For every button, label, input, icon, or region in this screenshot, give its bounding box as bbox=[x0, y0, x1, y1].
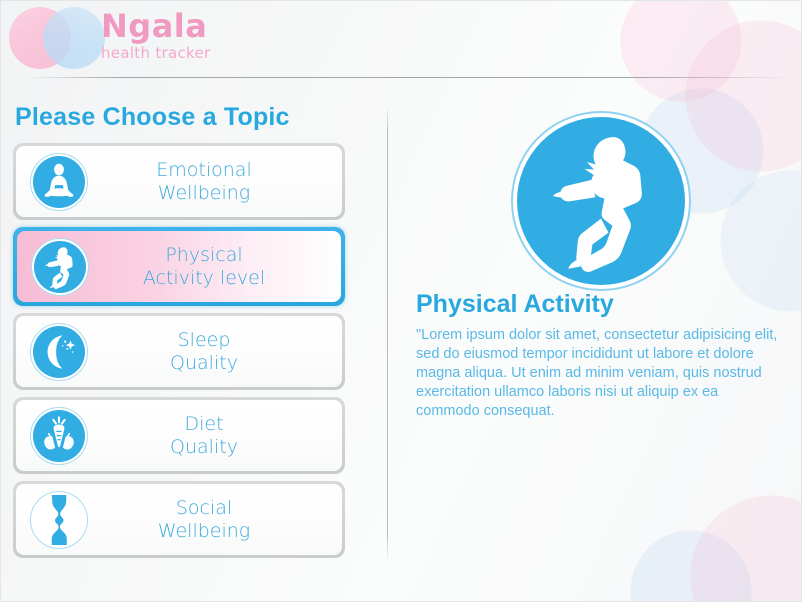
crescent-moon-stars-icon bbox=[30, 323, 88, 381]
logo-circle-blue-icon bbox=[43, 7, 105, 69]
brand-wordmark: Ngala health tracker bbox=[101, 9, 211, 62]
app-window: Ngala health tracker Please Choose a Top… bbox=[0, 0, 802, 602]
page-title: Please Choose a Topic bbox=[15, 103, 373, 132]
topic-item-inner: EmotionalWellbeing bbox=[16, 146, 342, 217]
topic-item-inner: PhysicalActivity level bbox=[17, 231, 341, 302]
jumping-person-icon bbox=[31, 238, 89, 296]
detail-title: Physical Activity bbox=[416, 290, 614, 319]
topic-selection-panel: Please Choose a Topic EmotionalWellbeing… bbox=[1, 87, 373, 587]
two-faces-vase-icon bbox=[30, 491, 88, 549]
topic-item-0[interactable]: EmotionalWellbeing bbox=[13, 143, 345, 220]
topic-item-label: SleepQuality bbox=[88, 329, 342, 375]
panel-divider bbox=[387, 105, 388, 561]
topic-item-label: DietQuality bbox=[88, 413, 342, 459]
topic-item-inner: SocialWellbeing bbox=[16, 484, 342, 555]
brand-tagline: health tracker bbox=[101, 44, 211, 62]
detail-body-text: "Lorem ipsum dolor sit amet, consectetur… bbox=[416, 326, 780, 421]
topic-item-1[interactable]: PhysicalActivity level bbox=[13, 227, 345, 306]
topic-item-3[interactable]: DietQuality bbox=[13, 397, 345, 474]
topic-item-label: EmotionalWellbeing bbox=[88, 159, 342, 205]
brand-name: Ngala bbox=[101, 9, 211, 43]
carrot-vegetables-icon bbox=[30, 407, 88, 465]
topic-detail-panel: Physical Activity "Lorem ipsum dolor sit… bbox=[405, 97, 793, 567]
brand-logo-mark bbox=[9, 7, 109, 69]
topic-item-2[interactable]: SleepQuality bbox=[13, 313, 345, 390]
hero-jumping-person-icon bbox=[511, 111, 691, 291]
topic-item-label: PhysicalActivity level bbox=[89, 244, 341, 290]
topic-item-4[interactable]: SocialWellbeing bbox=[13, 481, 345, 558]
topic-item-label: SocialWellbeing bbox=[88, 497, 342, 543]
header-divider bbox=[26, 77, 796, 78]
topic-list: EmotionalWellbeingPhysicalActivity level… bbox=[13, 143, 345, 565]
topic-item-inner: DietQuality bbox=[16, 400, 342, 471]
topic-item-inner: SleepQuality bbox=[16, 316, 342, 387]
meditation-lotus-icon bbox=[30, 153, 88, 211]
app-header: Ngala health tracker bbox=[1, 1, 802, 79]
